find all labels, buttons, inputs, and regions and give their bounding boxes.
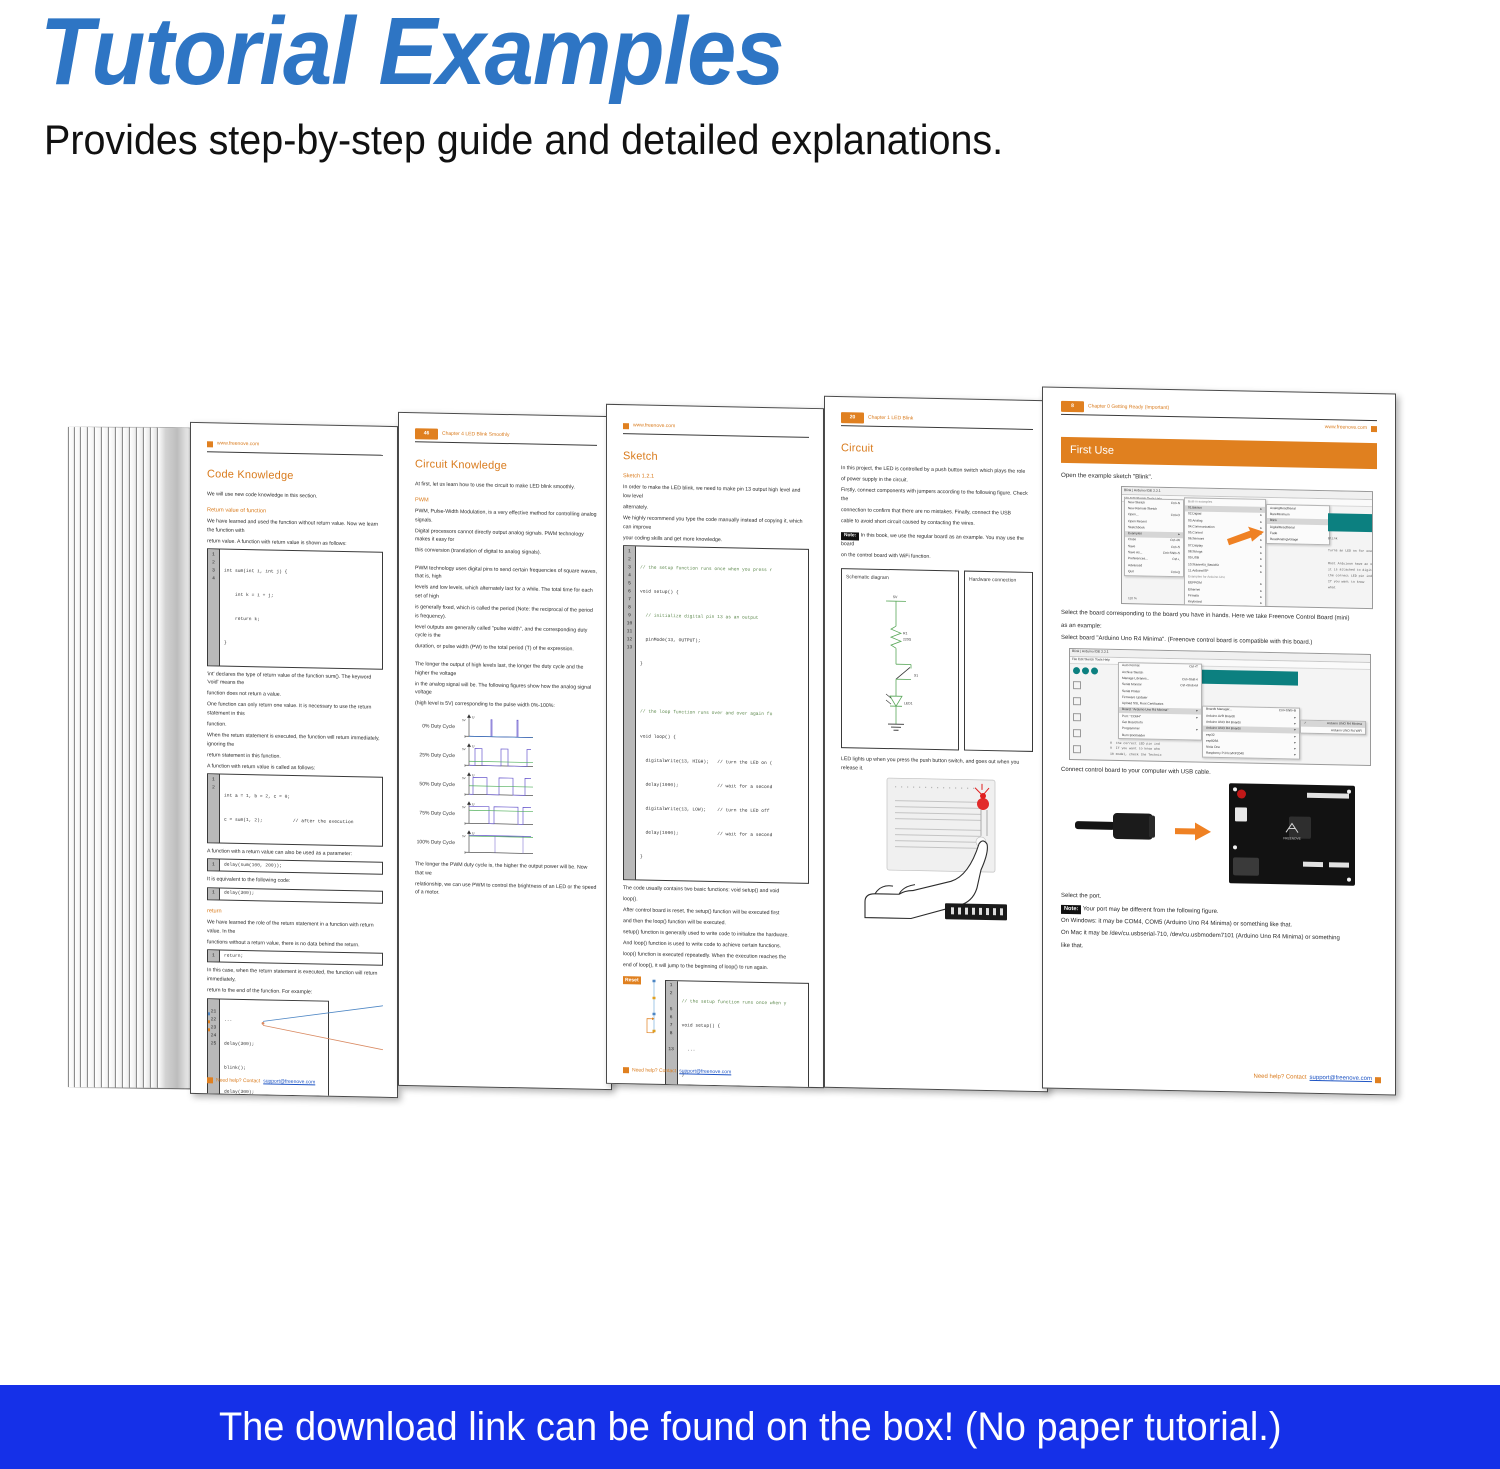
menu-item[interactable]: Raspberry Pi Pico/RP2040▸	[1203, 751, 1299, 759]
pwm-label: 0% Duty Cycle	[415, 722, 455, 731]
page-number-badge: 20	[841, 412, 864, 424]
pwm-row: 50% Duty Cycle U 5V 0	[415, 771, 597, 801]
board-submenu[interactable]: Boards Manager...Ctrl+Shift+B Arduino AV…	[1202, 706, 1300, 760]
reset-button-icon	[1237, 790, 1246, 799]
body-line: After control board is reset, the setup(…	[623, 906, 809, 918]
schematic-drawing: 5V R1 220Ω S1	[846, 584, 954, 736]
verify-icon[interactable]	[1073, 667, 1080, 674]
need-help-text: Need help? Contact	[632, 1066, 676, 1075]
debug-icon[interactable]	[1091, 667, 1098, 674]
figure-caption: LED lights up when you press the push bu…	[841, 755, 1033, 776]
body-line: In this project, the LED is controlled b…	[841, 464, 1033, 476]
body-line: function does not return a value.	[207, 690, 383, 702]
note-text: In this book, we use the regular board a…	[841, 532, 1024, 547]
editor-highlight-strip	[1198, 669, 1298, 685]
pwm-waveform-25: U 5V 0	[461, 743, 535, 770]
debugger-icon[interactable]	[1073, 729, 1081, 737]
menu-item[interactable]: ReadAnalogVoltage	[1267, 537, 1329, 545]
note-badge: Note:	[841, 532, 859, 540]
svg-text:5V: 5V	[462, 747, 466, 751]
svg-text:0: 0	[464, 793, 466, 797]
body-line: alternately.	[623, 503, 809, 515]
tools-menu-dropdown[interactable]: Auto FormatCtrl+T Archive Sketch Manage …	[1118, 662, 1202, 741]
body-line: 'int' declares the type of return value …	[207, 670, 383, 691]
body-line: in the analog signal will be. The follow…	[415, 680, 597, 701]
tutorial-page-sketch[interactable]: www.freenove.com Sketch Sketch 1.2.1 In …	[606, 404, 824, 1088]
section-heading: Sketch	[623, 447, 809, 469]
library-manager-icon[interactable]	[1073, 713, 1081, 721]
code-source: int sum(int i, int j) { int k = i + j; r…	[220, 550, 382, 669]
pwm-duty-cycle-figure: 0% Duty Cycle U 5V 0	[415, 713, 597, 859]
examples-submenu[interactable]: Built-in examples 01.Basics▸ 02.Digital▸…	[1184, 498, 1266, 610]
header-strip-bl	[1303, 862, 1323, 867]
svg-text:5V: 5V	[462, 718, 466, 722]
ide-toolbar[interactable]	[1073, 667, 1098, 675]
header: Tutorial Examples Provides step-by-step …	[40, 4, 1440, 164]
menu-item[interactable]: SPI▸	[1185, 605, 1265, 609]
pwm-waveform-50: U 5V 0	[461, 772, 535, 799]
menu-item-wifi[interactable]: Arduino UNO R4 WiFi	[1301, 727, 1365, 735]
freenove-control-board: FREENOVE	[1229, 783, 1355, 886]
barrel-jack	[1233, 858, 1259, 877]
flow-arrows	[645, 976, 661, 1038]
need-help-text: Need help? Contact	[216, 1076, 260, 1085]
svg-text:0: 0	[464, 764, 466, 768]
pwm-row: 100% Duty Cycle U 5V 0	[415, 829, 597, 859]
header-site: www.freenove.com	[217, 440, 259, 449]
upload-icon[interactable]	[1082, 667, 1089, 674]
page-footer: Need help? Contact support@freenove.com	[1059, 1069, 1381, 1085]
freenove-logo-icon	[623, 423, 629, 429]
svg-text:220Ω: 220Ω	[903, 638, 912, 642]
arduino-ide-window-2[interactable]: Blink | Arduino IDE 2.2.1 File Edit Sket…	[1069, 648, 1371, 766]
body-line: We have learned and used the function wi…	[207, 517, 383, 538]
orange-arrow-icon	[1226, 525, 1266, 548]
boards-manager-icon[interactable]	[1073, 697, 1081, 705]
header-site: www.freenove.com	[1325, 423, 1367, 432]
header-rule	[623, 433, 809, 438]
support-email-link[interactable]: support@freenove.com	[679, 1067, 731, 1076]
ide-screenshot-board: Blink | Arduino IDE 2.2.1 File Edit Sket…	[1061, 648, 1377, 766]
download-link-banner: The download link can be found on the bo…	[0, 1385, 1500, 1469]
body-line: A function with return value is called a…	[207, 762, 383, 774]
pwm-label: 75% Duty Cycle	[415, 809, 455, 818]
body-line: relationship, we can use PWM to control …	[415, 880, 597, 901]
svg-text:0: 0	[464, 822, 466, 826]
body-line: and then the loop() function will be exe…	[623, 917, 809, 929]
intro-text: At first, let us learn how to use the ci…	[415, 480, 597, 492]
note-text-2: on the control board with WiFi function.	[841, 551, 1033, 563]
download-link-banner-text: The download link can be found on the bo…	[219, 1405, 1282, 1450]
step-text: Open the example sketch "Blink".	[1061, 471, 1377, 488]
body-line: One function can only return one value. …	[207, 701, 383, 722]
arduino-ide-window[interactable]: Blink | Arduino IDE 2.2.1 File Edit Sket…	[1121, 486, 1373, 609]
page-header: www.freenove.com	[623, 421, 809, 434]
body-line: The longer the PWM duty cycle is, the hi…	[415, 860, 597, 881]
body-line: return to the end of the function. For e…	[207, 986, 383, 998]
code-source: // the setup function runs once when you…	[636, 547, 808, 883]
search-icon[interactable]	[1073, 745, 1081, 753]
page-header: 20 Chapter 1 LED Blink	[841, 413, 1033, 426]
page-title: Tutorial Examples	[40, 4, 1328, 100]
body-line: PWM, Pulse-Width Modulation, is a very e…	[415, 507, 597, 528]
figure-row: Schematic diagram 5V R1 220Ω	[841, 564, 1033, 756]
body-line: is generally fixed, which is called the …	[415, 603, 597, 624]
tutorial-page-stack: www.freenove.com Code Knowledge We will …	[0, 390, 1500, 1130]
usb-c-port	[1235, 808, 1247, 822]
body-line: We highly recommend you type the code ma…	[623, 514, 809, 535]
sketchbook-icon[interactable]	[1073, 681, 1081, 689]
body-line: A function with a return value can also …	[207, 847, 383, 859]
body-line: functions without a return value, there …	[207, 938, 383, 950]
board-brand-text: FREENOVE	[1283, 837, 1301, 843]
page-subtitle: Provides step-by-step guide and detailed…	[44, 116, 1356, 164]
hardware-connection-figure: Hardware connection	[964, 571, 1033, 752]
svg-text:U: U	[472, 744, 475, 748]
header-strip-top	[1307, 793, 1349, 799]
body-line: loop().	[623, 895, 809, 907]
body-line: return statement in this function.	[207, 751, 383, 763]
chapter-title: Chapter 4 LED Blink Smoothly	[442, 430, 510, 440]
code-block: 1 2 3 4 5 6 7 8 9 10 11 12 13 // the set…	[623, 545, 809, 883]
body-line: duration, or pulse width (PW) to the tot…	[415, 643, 597, 655]
body-line: setup() function is generally used to wr…	[623, 928, 809, 940]
code-block: 1 return;	[207, 950, 383, 967]
freenove-logo-icon	[623, 1067, 629, 1073]
svg-text:0: 0	[464, 851, 466, 855]
section-heading: Circuit Knowledge	[415, 455, 597, 477]
note-text: Your port may be different from the foll…	[1083, 906, 1219, 915]
svg-text:5V: 5V	[462, 805, 466, 809]
body-line: cable to avoid short circuit caused by c…	[841, 517, 1033, 529]
intro-text: We will use new code knowledge in this s…	[207, 490, 383, 502]
svg-text:5V: 5V	[462, 834, 466, 838]
svg-text:0: 0	[464, 735, 466, 739]
body-line: level outputs are generally called "puls…	[415, 623, 597, 644]
breadboard-hand-illustration	[841, 775, 1033, 929]
body-line: The longer the output of high levels las…	[415, 660, 597, 681]
support-email-link[interactable]: support@freenove.com	[1310, 1074, 1372, 1085]
svg-text:S1: S1	[914, 674, 918, 678]
section-heading: Code Knowledge	[207, 465, 383, 487]
page-number-badge: 46	[415, 428, 438, 440]
svg-text:U: U	[472, 773, 475, 777]
usb-to-board-figure: FREENOVE	[1061, 778, 1377, 894]
freenove-logo-icon	[1375, 1077, 1381, 1083]
pwm-row: 75% Duty Cycle U 5V 0	[415, 800, 597, 830]
section-heading: Circuit	[841, 439, 1033, 461]
code-block: 1 2 3 4 int sum(int i, int j) { int k = …	[207, 548, 383, 669]
header-rule	[841, 425, 1033, 430]
page-header: 46 Chapter 4 LED Blink Smoothly	[415, 429, 597, 442]
editor-highlight-strip	[1328, 513, 1372, 532]
mount-hole	[1347, 790, 1351, 794]
ide-screenshot-examples: Blink | Arduino IDE 2.2.1 File Edit Sket…	[1061, 485, 1377, 609]
breadboard-drawing	[841, 775, 1041, 929]
tutorial-page-circuit-knowledge[interactable]: 46 Chapter 4 LED Blink Smoothly Circuit …	[398, 412, 612, 1090]
svg-text:U: U	[472, 802, 475, 806]
header-rule	[207, 451, 383, 456]
header-rule	[415, 441, 597, 446]
mount-hole	[1347, 878, 1351, 882]
body-line: return value. A function with return val…	[207, 537, 383, 549]
header-strip-br	[1329, 863, 1349, 868]
chapter-title: Chapter 0 Getting Ready (Important)	[1088, 403, 1169, 413]
body-line: We have learned the role of the return s…	[207, 918, 383, 939]
note-badge: Note:	[1061, 905, 1081, 915]
body-line: When the return statement is executed, t…	[207, 731, 383, 752]
section-bar: First Use	[1061, 437, 1377, 469]
body-line: function.	[207, 720, 383, 732]
code-block: 1 2 int a = 1, b = 2, c = 0; c = sum(1, …	[207, 774, 383, 847]
body-line: In order to make the LED blink, we need …	[623, 484, 809, 505]
tutorial-page-first-use[interactable]: 8 Chapter 0 Getting Ready (Important) ww…	[1042, 386, 1396, 1095]
support-email-link[interactable]: support@freenove.com	[263, 1077, 315, 1086]
svg-text:U: U	[472, 831, 475, 835]
file-menu-dropdown[interactable]: New SketchCtrl+N New Remote Sketch Open.…	[1124, 498, 1184, 577]
page-header: www.freenove.com	[207, 439, 383, 452]
pwm-label: 100% Duty Cycle	[415, 838, 455, 847]
tutorial-page-code-knowledge[interactable]: www.freenove.com Code Knowledge We will …	[190, 422, 398, 1098]
schematic-caption: Schematic diagram	[846, 573, 954, 583]
svg-text:5V: 5V	[893, 596, 898, 600]
editor-code-preview: 8 the correct LED pin ind9 If you want t…	[1110, 740, 1162, 758]
need-help-text: Need help? Contact	[1253, 1073, 1306, 1084]
chapter-title: Chapter 1 LED Blink	[868, 414, 913, 423]
body-line: The code usually contains two basic func…	[623, 884, 809, 896]
page-number-badge: 8	[1061, 401, 1084, 413]
ide-sidebar[interactable]	[1073, 681, 1081, 753]
schematic-figure: Schematic diagram 5V R1 220Ω	[841, 568, 959, 750]
body-line: Firstly, connect components with jumpers…	[841, 486, 1033, 507]
body-line: (high level is 5V) corresponding to the …	[415, 700, 597, 712]
body-line: PWM technology uses digital pins to send…	[415, 564, 597, 585]
freenove-logo-icon	[1284, 823, 1300, 835]
freenove-logo-icon	[207, 1077, 213, 1083]
body-line: connection to confirm that there are no …	[841, 506, 1033, 518]
tutorial-page-circuit[interactable]: 20 Chapter 1 LED Blink Circuit In this p…	[824, 396, 1048, 1092]
code-line-numbers: 1 2 3 4 5 6 7 8 9 10 11 12 13	[624, 547, 636, 880]
body-line: end of loop(), it will jump to the begin…	[623, 961, 809, 973]
body-line: In this case, when the return statement …	[207, 967, 383, 988]
uno-r4-submenu[interactable]: ✓ Arduino UNO R4 Minima Arduino UNO R4 W…	[1300, 720, 1366, 736]
mount-hole	[1233, 846, 1237, 850]
pwm-row: 0% Duty Cycle U 5V 0	[415, 713, 597, 743]
hardware-caption: Hardware connection	[969, 576, 1028, 585]
code-block: 1 delay(300);	[207, 887, 383, 904]
body-line: And loop() function is used to write cod…	[623, 939, 809, 951]
body-line: of power supply in the circuit.	[841, 475, 1033, 487]
svg-text:5V: 5V	[462, 776, 466, 780]
menu-item[interactable]: Burn Bootloader	[1119, 732, 1201, 740]
pwm-waveform-100: U 5V 0	[461, 830, 535, 857]
svg-text:LED1: LED1	[904, 702, 913, 706]
pwm-label: 50% Duty Cycle	[415, 780, 455, 789]
pwm-label: 25% Duty Cycle	[415, 751, 455, 760]
svg-text:U: U	[472, 715, 475, 719]
pwm-waveform-75: U 5V 0	[461, 801, 535, 828]
code-block: 1 delay(sum(100, 200));	[207, 858, 383, 875]
booklet-edge	[157, 428, 193, 1089]
menu-item[interactable]: QuitCtrl+Q	[1125, 568, 1183, 575]
svg-text:R1: R1	[903, 632, 907, 636]
body-line: Digital processors cannot directly outpu…	[415, 527, 597, 548]
pwm-row: 25% Duty Cycle U 5V 0	[415, 742, 597, 772]
freenove-logo-icon	[1371, 426, 1377, 432]
body-line: this conversion (translation of digital …	[415, 546, 597, 558]
editor-code-preview: Blink Turns an LED on for one Most Ardui…	[1328, 535, 1372, 591]
code-line-numbers: 1 2 3 4	[208, 549, 220, 665]
body-line: levels and low levels, which alternately…	[415, 584, 597, 605]
reset-badge: Reset	[623, 976, 641, 985]
body-line: It is equivalent to the following code:	[207, 876, 383, 888]
body-line: loop() function is executed repeatedly. …	[623, 950, 809, 962]
pwm-waveform-0: U 5V 0	[461, 714, 535, 741]
freenove-logo-icon	[207, 441, 213, 447]
body-line: your coding skills and get more knowledg…	[623, 534, 809, 546]
note-line: Note: In this book, we use the regular b…	[841, 531, 1033, 552]
basics-submenu[interactable]: AnalogReadSerial BareMinimum Blink Digit…	[1266, 504, 1330, 545]
header-site: www.freenove.com	[633, 422, 675, 431]
ide-zoom-control[interactable]: 110 %	[1128, 596, 1137, 601]
